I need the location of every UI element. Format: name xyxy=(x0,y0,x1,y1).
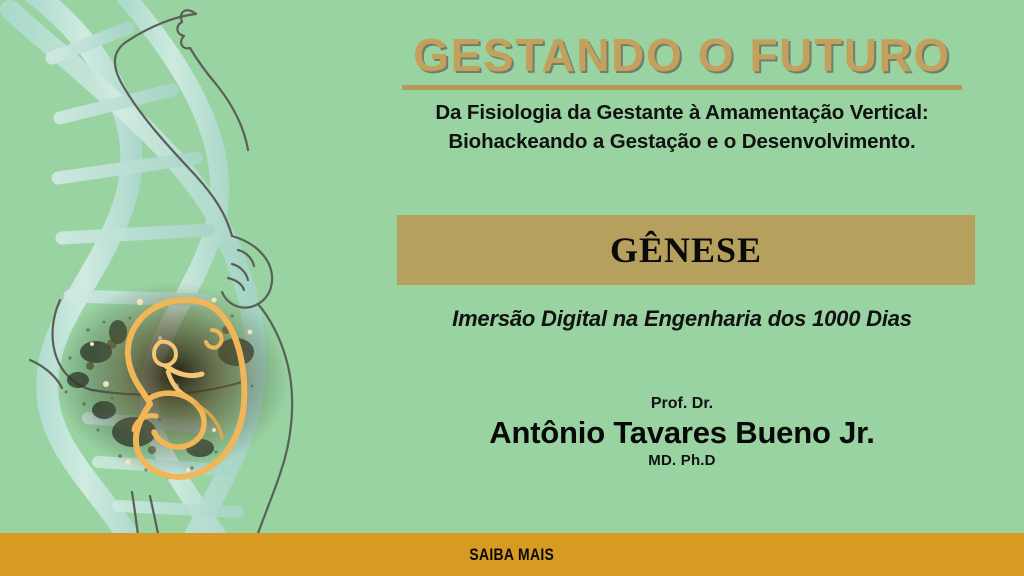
subtitle: Da Fisiologia da Gestante à Amamentação … xyxy=(382,98,982,156)
banner-label: GÊNESE xyxy=(610,229,762,271)
speaker-name: Antônio Tavares Bueno Jr. xyxy=(382,414,982,451)
genese-banner: GÊNESE xyxy=(397,215,975,285)
tagline: Imersão Digital na Engenharia dos 1000 D… xyxy=(382,306,982,332)
speaker-prefix: Prof. Dr. xyxy=(382,394,982,414)
subtitle-line-1: Da Fisiologia da Gestante à Amamentação … xyxy=(382,98,982,127)
presentation-slide: GESTANDO O FUTURO Da Fisiologia da Gesta… xyxy=(0,0,1024,576)
speaker-block: Prof. Dr. Antônio Tavares Bueno Jr. MD. … xyxy=(382,394,982,470)
saiba-mais-button[interactable]: SAIBA MAIS xyxy=(0,533,1024,576)
title-divider xyxy=(402,85,962,90)
artwork-illustration xyxy=(0,0,400,576)
artwork-panel xyxy=(0,0,400,576)
cta-label: SAIBA MAIS xyxy=(470,545,555,565)
subtitle-line-2: Biohackeando a Gestação e o Desenvolvime… xyxy=(382,127,982,156)
speaker-credentials: MD. Ph.D xyxy=(382,451,982,470)
page-title: GESTANDO O FUTURO xyxy=(382,29,982,81)
content-column: GESTANDO O FUTURO Da Fisiologia da Gesta… xyxy=(382,0,982,533)
